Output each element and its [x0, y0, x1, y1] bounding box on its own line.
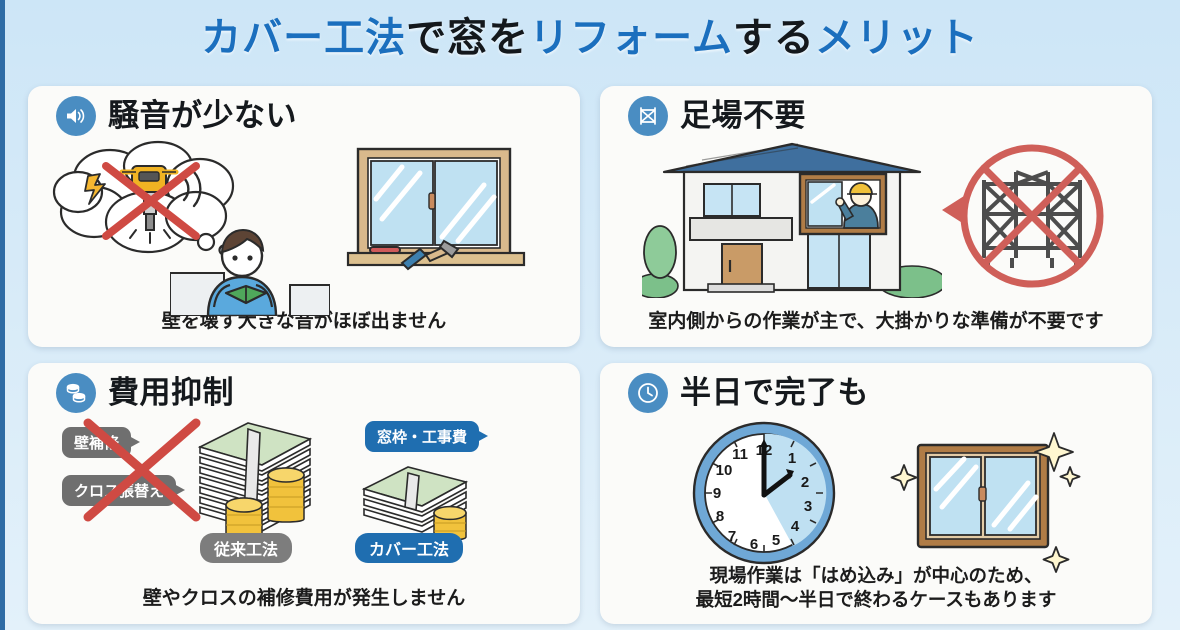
title-segment-4: する [733, 16, 815, 60]
benefit-card-no-scaffolding[interactable]: 足場不要 [600, 86, 1152, 347]
window-with-tools-illustration [340, 141, 540, 291]
card-header: 費用抑制 [40, 373, 568, 413]
page-title: カバー工法で窓をリフォームするメリット [0, 0, 1180, 62]
svg-text:7: 7 [728, 528, 736, 545]
card-header: 足場不要 [612, 96, 1140, 136]
card-title: 騒音が少ない [108, 99, 297, 133]
title-segment-3: リフォーム [529, 16, 733, 60]
illustration-house-no-scaffold [612, 136, 1140, 310]
coins-icon [56, 373, 96, 413]
no-scaffolding-icon-illustration [942, 144, 1117, 294]
scaffolding-icon [628, 96, 668, 136]
card-header: 半日で完了も [612, 373, 1140, 413]
benefit-card-halfday[interactable]: 半日で完了も 12 1 2 3 4 5 6 7 [600, 363, 1152, 624]
tag-conventional-method: 従来工法 [200, 533, 292, 563]
house-illustration [642, 140, 942, 298]
title-segment-5: メリット [815, 16, 979, 60]
svg-text:4: 4 [791, 518, 800, 535]
benefit-card-cost[interactable]: 費用抑制 壁補修 クロス張替え [28, 363, 580, 624]
svg-text:10: 10 [716, 462, 733, 479]
tag-cover-method: カバー工法 [355, 533, 463, 563]
illustration-clock-and-window: 12 1 2 3 4 5 6 7 8 9 10 11 [612, 413, 1140, 564]
svg-text:5: 5 [772, 532, 780, 549]
illustration-quiet-room [40, 136, 568, 310]
svg-text:3: 3 [804, 498, 812, 515]
benefits-grid: 騒音が少ない [28, 86, 1152, 624]
benefit-card-noise[interactable]: 騒音が少ない [28, 86, 580, 347]
card-title: 半日で完了も [680, 376, 869, 410]
speaker-icon [56, 96, 96, 136]
card-caption-line2: 最短2時間〜半日で終わるケースもあります [612, 588, 1140, 612]
card-header: 騒音が少ない [40, 96, 568, 136]
money-stack-conventional [190, 413, 325, 553]
svg-text:1: 1 [788, 450, 796, 467]
left-accent-bar [0, 0, 5, 630]
bubble-window-cost: 窓枠・工事費 [365, 421, 479, 452]
title-segment-2: で窓を [406, 16, 529, 60]
analog-clock-illustration: 12 1 2 3 4 5 6 7 8 9 10 11 [690, 419, 838, 567]
svg-text:11: 11 [732, 446, 748, 463]
svg-text:2: 2 [801, 474, 809, 491]
svg-text:8: 8 [716, 508, 724, 525]
clock-icon [628, 373, 668, 413]
card-title: 費用抑制 [108, 376, 234, 410]
svg-text:6: 6 [750, 536, 758, 553]
illustration-cost-comparison: 壁補修 クロス張替え [40, 413, 568, 587]
new-window-sparkle-illustration [884, 423, 1084, 573]
card-caption: 室内側からの作業が主で、大掛かりな準備が不要です [612, 310, 1140, 339]
card-title: 足場不要 [680, 99, 806, 133]
person-reading-illustration [170, 211, 330, 316]
svg-text:9: 9 [713, 485, 721, 502]
card-caption: 壁やクロスの補修費用が発生しません [40, 587, 568, 616]
title-segment-1: カバー工法 [201, 16, 406, 60]
